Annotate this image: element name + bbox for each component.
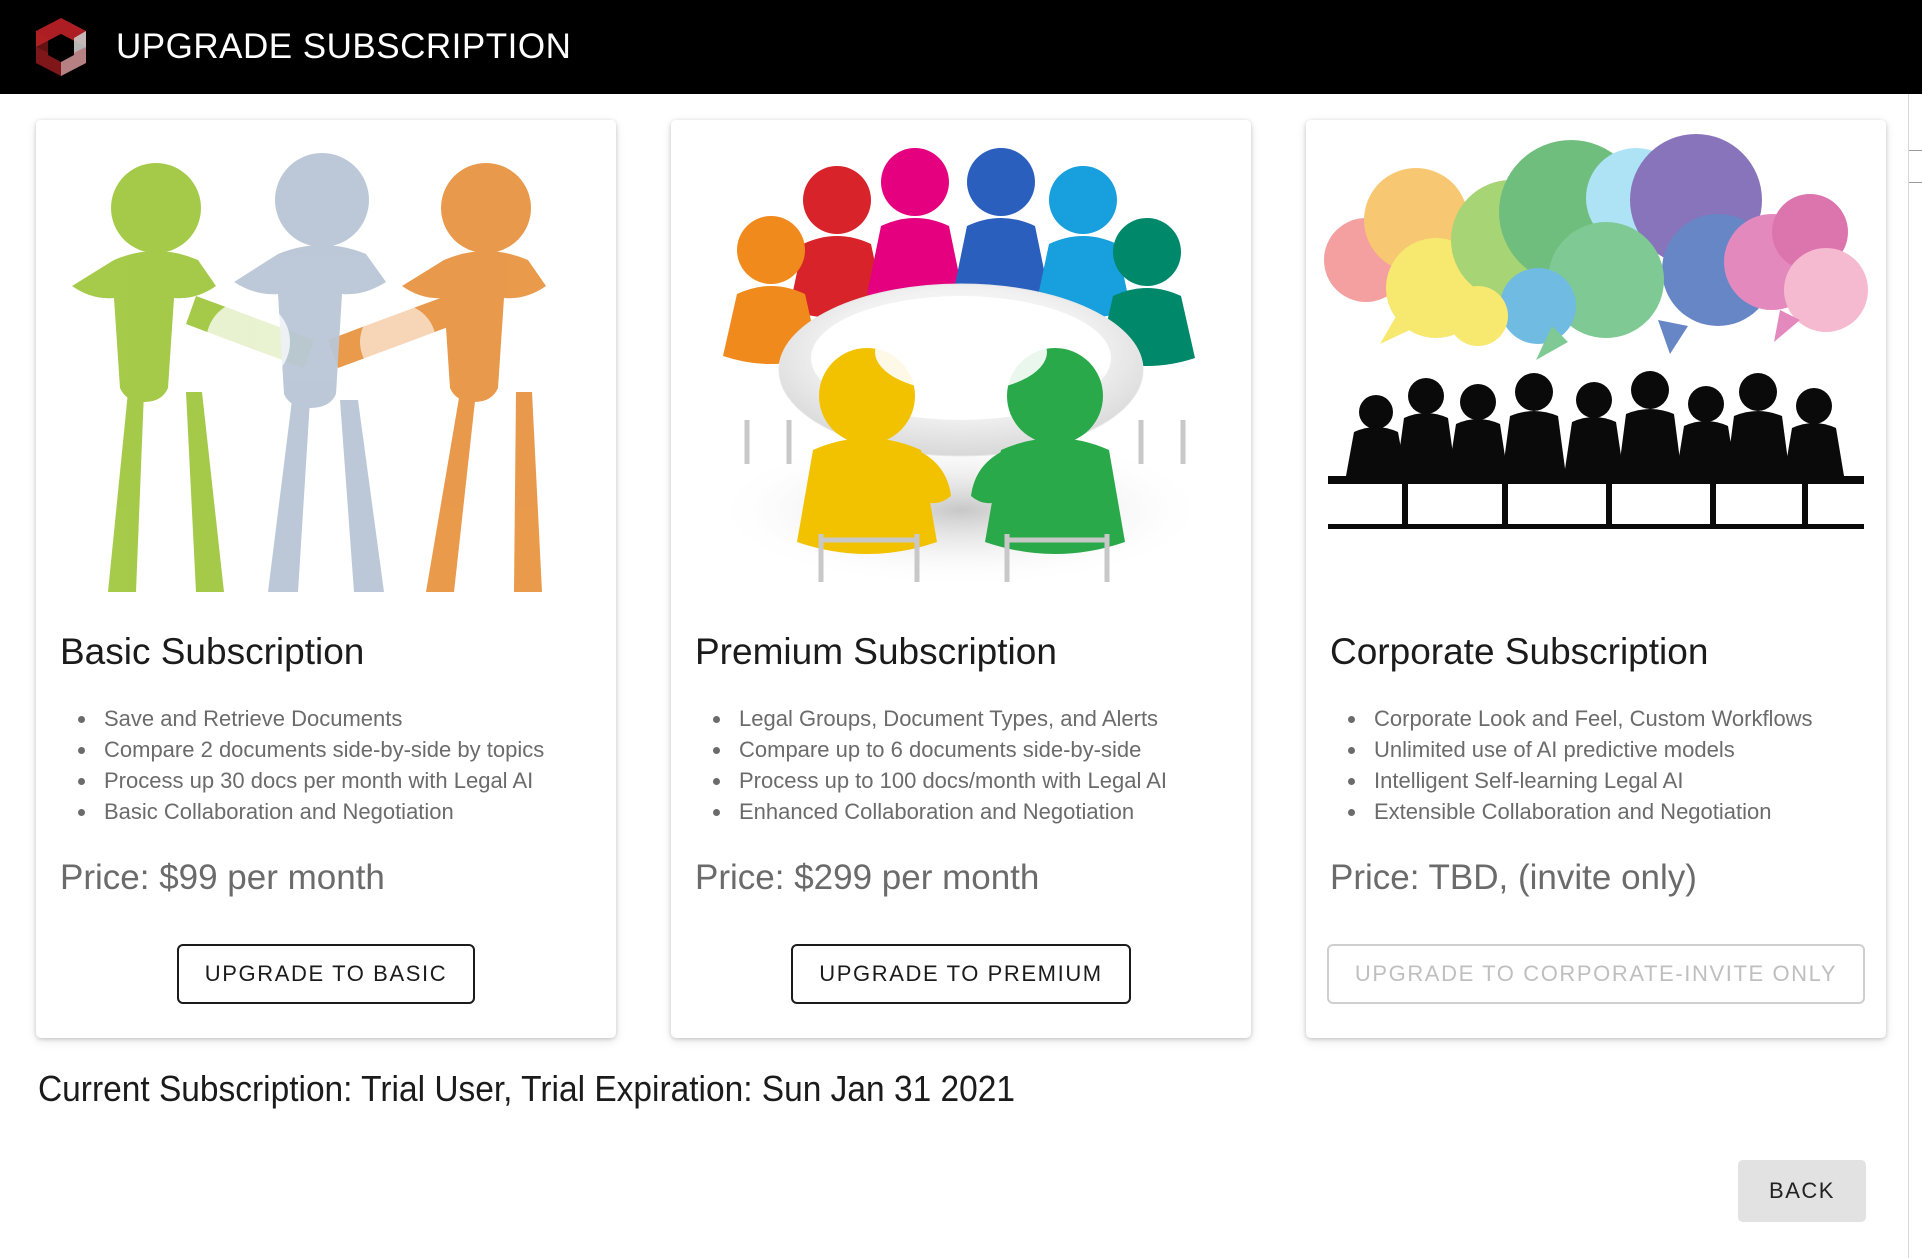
card-body: Corporate Subscription Corporate Look an… xyxy=(1306,610,1886,898)
feature-item: Basic Collaboration and Negotiation xyxy=(98,796,592,827)
three-people-handshake-illustration xyxy=(36,120,616,610)
feature-item: Legal Groups, Document Types, and Alerts xyxy=(733,703,1227,734)
feature-list: Corporate Look and Feel, Custom Workflow… xyxy=(1330,703,1862,828)
upgrade-to-basic-button[interactable]: UPGRADE TO BASIC xyxy=(177,944,475,1004)
card-title: Premium Subscription xyxy=(695,632,1227,673)
card-body: Basic Subscription Save and Retrieve Doc… xyxy=(36,610,616,898)
card-price: Price: $299 per month xyxy=(695,858,1227,898)
feature-item: Compare 2 documents side-by-side by topi… xyxy=(98,734,592,765)
round-table-meeting-figures-illustration xyxy=(671,120,1251,610)
card-action: UPGRADE TO BASIC xyxy=(36,944,616,1038)
card-price: Price: TBD, (invite only) xyxy=(1330,858,1862,898)
feature-item: Enhanced Collaboration and Negotiation xyxy=(733,796,1227,827)
card-action: UPGRADE TO PREMIUM xyxy=(671,944,1251,1038)
subscription-card-basic: Basic Subscription Save and Retrieve Doc… xyxy=(36,120,616,1038)
feature-item: Extensible Collaboration and Negotiation xyxy=(1368,796,1862,827)
back-button[interactable]: BACK xyxy=(1738,1160,1866,1222)
page-title: UPGRADE SUBSCRIPTION xyxy=(116,27,571,67)
feature-item: Process up to 100 docs/month with Legal … xyxy=(733,765,1227,796)
current-subscription-status: Current Subscription: Trial User, Trial … xyxy=(38,1068,1015,1110)
card-price: Price: $99 per month xyxy=(60,858,592,898)
hexagon-ring-logo-icon xyxy=(28,14,94,80)
feature-item: Corporate Look and Feel, Custom Workflow… xyxy=(1368,703,1862,734)
feature-item: Process up 30 docs per month with Legal … xyxy=(98,765,592,796)
app-header: UPGRADE SUBSCRIPTION xyxy=(0,0,1922,94)
feature-list: Save and Retrieve Documents Compare 2 do… xyxy=(60,703,592,828)
upgrade-to-premium-button[interactable]: UPGRADE TO PREMIUM xyxy=(791,944,1130,1004)
feature-item: Save and Retrieve Documents xyxy=(98,703,592,734)
speech-bubbles-boardroom-silhouette-illustration xyxy=(1306,120,1886,610)
subscription-card-list: Basic Subscription Save and Retrieve Doc… xyxy=(36,120,1886,1038)
card-body: Premium Subscription Legal Groups, Docum… xyxy=(671,610,1251,898)
card-title: Basic Subscription xyxy=(60,632,592,673)
upgrade-to-corporate-button[interactable]: UPGRADE TO CORPORATE-INVITE ONLY xyxy=(1327,944,1865,1004)
card-action: UPGRADE TO CORPORATE-INVITE ONLY xyxy=(1306,944,1886,1038)
feature-item: Unlimited use of AI predictive models xyxy=(1368,734,1862,765)
feature-item: Compare up to 6 documents side-by-side xyxy=(733,734,1227,765)
card-title: Corporate Subscription xyxy=(1330,632,1862,673)
subscription-card-premium: Premium Subscription Legal Groups, Docum… xyxy=(671,120,1251,1038)
feature-item: Intelligent Self-learning Legal AI xyxy=(1368,765,1862,796)
right-panel-edge xyxy=(1908,94,1922,1258)
edge-divider xyxy=(1909,150,1922,151)
subscription-card-corporate: Corporate Subscription Corporate Look an… xyxy=(1306,120,1886,1038)
edge-divider xyxy=(1909,182,1922,183)
feature-list: Legal Groups, Document Types, and Alerts… xyxy=(695,703,1227,828)
